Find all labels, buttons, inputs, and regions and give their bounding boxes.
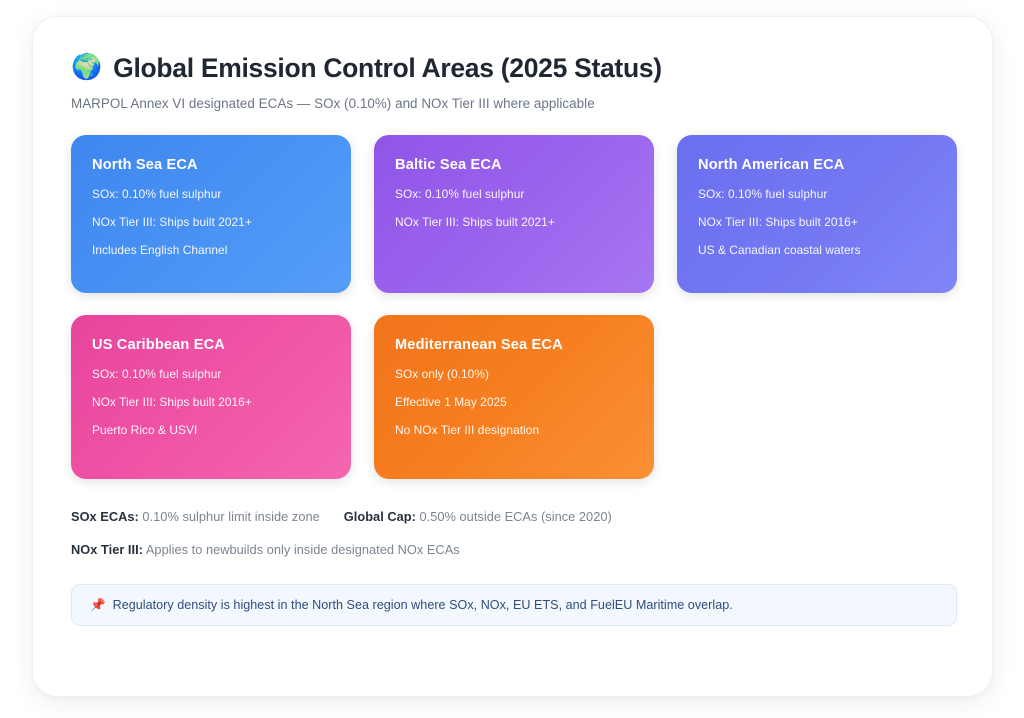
- footer-note-text: Regulatory density is highest in the Nor…: [113, 598, 733, 612]
- legend-value: 0.50% outside ECAs (since 2020): [416, 509, 612, 524]
- legend-block: SOx ECAs: 0.10% sulphur limit inside zon…: [71, 509, 957, 557]
- eca-card-title: Baltic Sea ECA: [395, 157, 633, 173]
- eca-card-detail-line: No NOx Tier III designation: [395, 423, 633, 438]
- header-title-row: 🌍 Global Emission Control Areas (2025 St…: [71, 53, 954, 84]
- legend-segment: NOx Tier III: Applies to newbuilds only …: [71, 542, 460, 557]
- eca-card-detail-line: NOx Tier III: Ships built 2021+: [92, 215, 330, 230]
- legend-row-nox: NOx Tier III: Applies to newbuilds only …: [71, 542, 957, 557]
- eca-card-detail-line: SOx only (0.10%): [395, 367, 633, 382]
- eca-card[interactable]: North American ECASOx: 0.10% fuel sulphu…: [677, 135, 957, 293]
- eca-card-detail-line: Includes English Channel: [92, 243, 330, 258]
- eca-card[interactable]: Baltic Sea ECASOx: 0.10% fuel sulphurNOx…: [374, 135, 654, 293]
- eca-card-detail-line: Effective 1 May 2025: [395, 395, 633, 410]
- panel-content: 🌍 Global Emission Control Areas (2025 St…: [71, 53, 954, 626]
- eca-card-detail-line: SOx: 0.10% fuel sulphur: [395, 187, 633, 202]
- legend-row-sox: SOx ECAs: 0.10% sulphur limit inside zon…: [71, 509, 957, 524]
- eca-card-detail-line: NOx Tier III: Ships built 2016+: [92, 395, 330, 410]
- legend-segment: SOx ECAs: 0.10% sulphur limit inside zon…: [71, 509, 320, 524]
- legend-value: 0.10% sulphur limit inside zone: [139, 509, 320, 524]
- pushpin-icon: 📌: [90, 599, 106, 612]
- eca-card-detail-line: Puerto Rico & USVI: [92, 423, 330, 438]
- page-title: Global Emission Control Areas (2025 Stat…: [113, 53, 662, 84]
- footer-note-bar: 📌 Regulatory density is highest in the N…: [71, 584, 957, 626]
- eca-card-title: North American ECA: [698, 157, 936, 173]
- eca-card[interactable]: US Caribbean ECASOx: 0.10% fuel sulphurN…: [71, 315, 351, 479]
- eca-card-title: North Sea ECA: [92, 157, 330, 173]
- eca-card-title: US Caribbean ECA: [92, 337, 330, 353]
- legend-value: Applies to newbuilds only inside designa…: [143, 542, 460, 557]
- eca-card-detail-line: SOx: 0.10% fuel sulphur: [92, 187, 330, 202]
- legend-segment: Global Cap: 0.50% outside ECAs (since 20…: [344, 509, 612, 524]
- eca-card[interactable]: Mediterranean Sea ECASOx only (0.10%)Eff…: [374, 315, 654, 479]
- eca-card-detail-line: NOx Tier III: Ships built 2016+: [698, 215, 936, 230]
- eca-card-detail-line: NOx Tier III: Ships built 2021+: [395, 215, 633, 230]
- eca-card-detail-line: SOx: 0.10% fuel sulphur: [698, 187, 936, 202]
- legend-key: SOx ECAs:: [71, 509, 139, 524]
- page-root: 🌍 Global Emission Control Areas (2025 St…: [0, 0, 1024, 718]
- page-subtitle: MARPOL Annex VI designated ECAs — SOx (0…: [71, 96, 954, 111]
- globe-icon: 🌍: [71, 55, 102, 80]
- legend-key: Global Cap:: [344, 509, 416, 524]
- legend-key: NOx Tier III:: [71, 542, 143, 557]
- eca-card-title: Mediterranean Sea ECA: [395, 337, 633, 353]
- eca-card[interactable]: North Sea ECASOx: 0.10% fuel sulphurNOx …: [71, 135, 351, 293]
- eca-card-detail-line: SOx: 0.10% fuel sulphur: [92, 367, 330, 382]
- main-panel: 🌍 Global Emission Control Areas (2025 St…: [32, 16, 993, 697]
- eca-card-detail-line: US & Canadian coastal waters: [698, 243, 936, 258]
- eca-card-grid: North Sea ECASOx: 0.10% fuel sulphurNOx …: [71, 135, 957, 479]
